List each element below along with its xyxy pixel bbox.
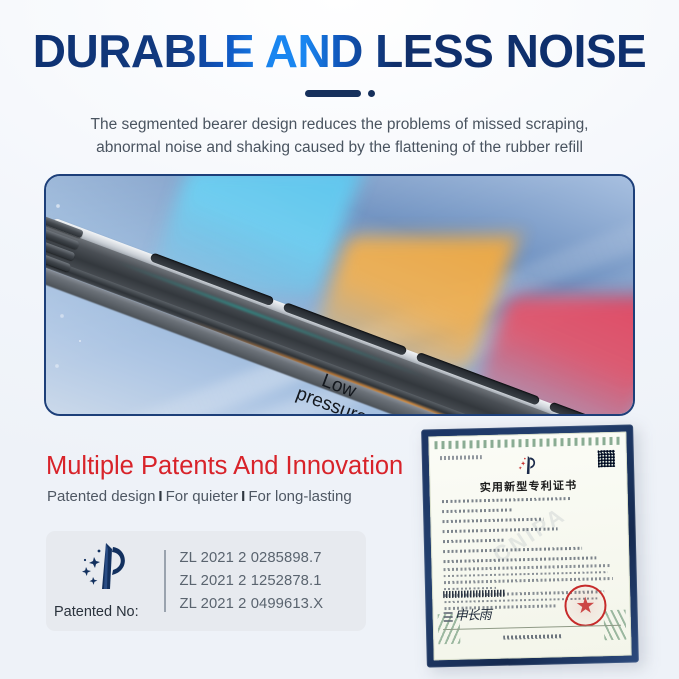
certificate-footer-bar [503,634,561,639]
patent-number: ZL 2021 2 1252878.1 [180,573,324,589]
certificate-barcode [443,590,505,599]
patents-sub-separator: I [155,488,165,505]
certificate-paper: CNIPA 实用新型专利证书 [428,432,631,661]
hero-subtitle: The segmented bearer design reduces the … [0,113,679,160]
hero-subtitle-line-1: The segmented bearer design reduces the … [0,113,679,136]
certificate-title: 实用新型专利证书 [429,476,627,497]
certificate-field-line [443,556,596,563]
hero-section: DURABLE AND LESS NOISE The segmented bea… [0,0,679,160]
qr-code-icon [598,450,615,467]
certificate-serial-number [440,455,482,460]
patent-logo-area: Patented No: [46,531,164,631]
patent-number: ZL 2021 2 0499613.X [180,596,324,612]
divider-bar [305,90,361,97]
certificate-field-line [442,497,571,503]
patent-certificate: CNIPA 实用新型专利证书 [421,424,639,667]
patent-no-label: Patented No: [54,604,139,620]
certificate-paragraph-line [444,577,613,584]
product-image-panel: Low pressure Medium pressure High pressu… [44,174,635,416]
patent-divider-rule [164,550,166,612]
certificate-top-ornament [434,437,620,450]
certificate-logo-icon [515,454,542,477]
patents-sub-item-0: Patented design [47,488,155,505]
hero-subtitle-line-2: abnormal noise and shaking caused by the… [0,136,679,159]
certificate-field-line [443,539,506,544]
patents-sub-item-2: For long-lasting [248,488,351,505]
certificate-paragraph-line [444,571,608,577]
certificate-footer [433,624,631,647]
certificate-field-line [443,547,582,553]
patents-subheading: Patented designIFor quieterIFor long-las… [47,488,352,505]
divider-dot [368,90,375,97]
patent-number-box: Patented No: ZL 2021 2 0285898.7 ZL 2021… [46,531,366,631]
patent-office-logo-icon [72,539,138,595]
patent-number: ZL 2021 2 0285898.7 [180,550,324,566]
patents-sub-item-1: For quieter [166,488,239,505]
official-seal-icon [564,584,607,627]
patents-heading: Multiple Patents And Innovation [46,452,403,481]
certificate-field-lines [442,496,618,570]
certificate-field-line [442,508,512,513]
patent-number-list: ZL 2021 2 0285898.7 ZL 2021 2 1252878.1 … [180,550,324,612]
certificate-signature-label [444,612,453,622]
certificate-field-line [442,518,543,523]
patents-sub-separator: I [238,488,248,505]
title-divider [0,90,679,97]
certificate-field-line [443,527,558,533]
page-title: DURABLE AND LESS NOISE [0,28,679,74]
certificate-signature: 申长雨 [454,604,490,624]
